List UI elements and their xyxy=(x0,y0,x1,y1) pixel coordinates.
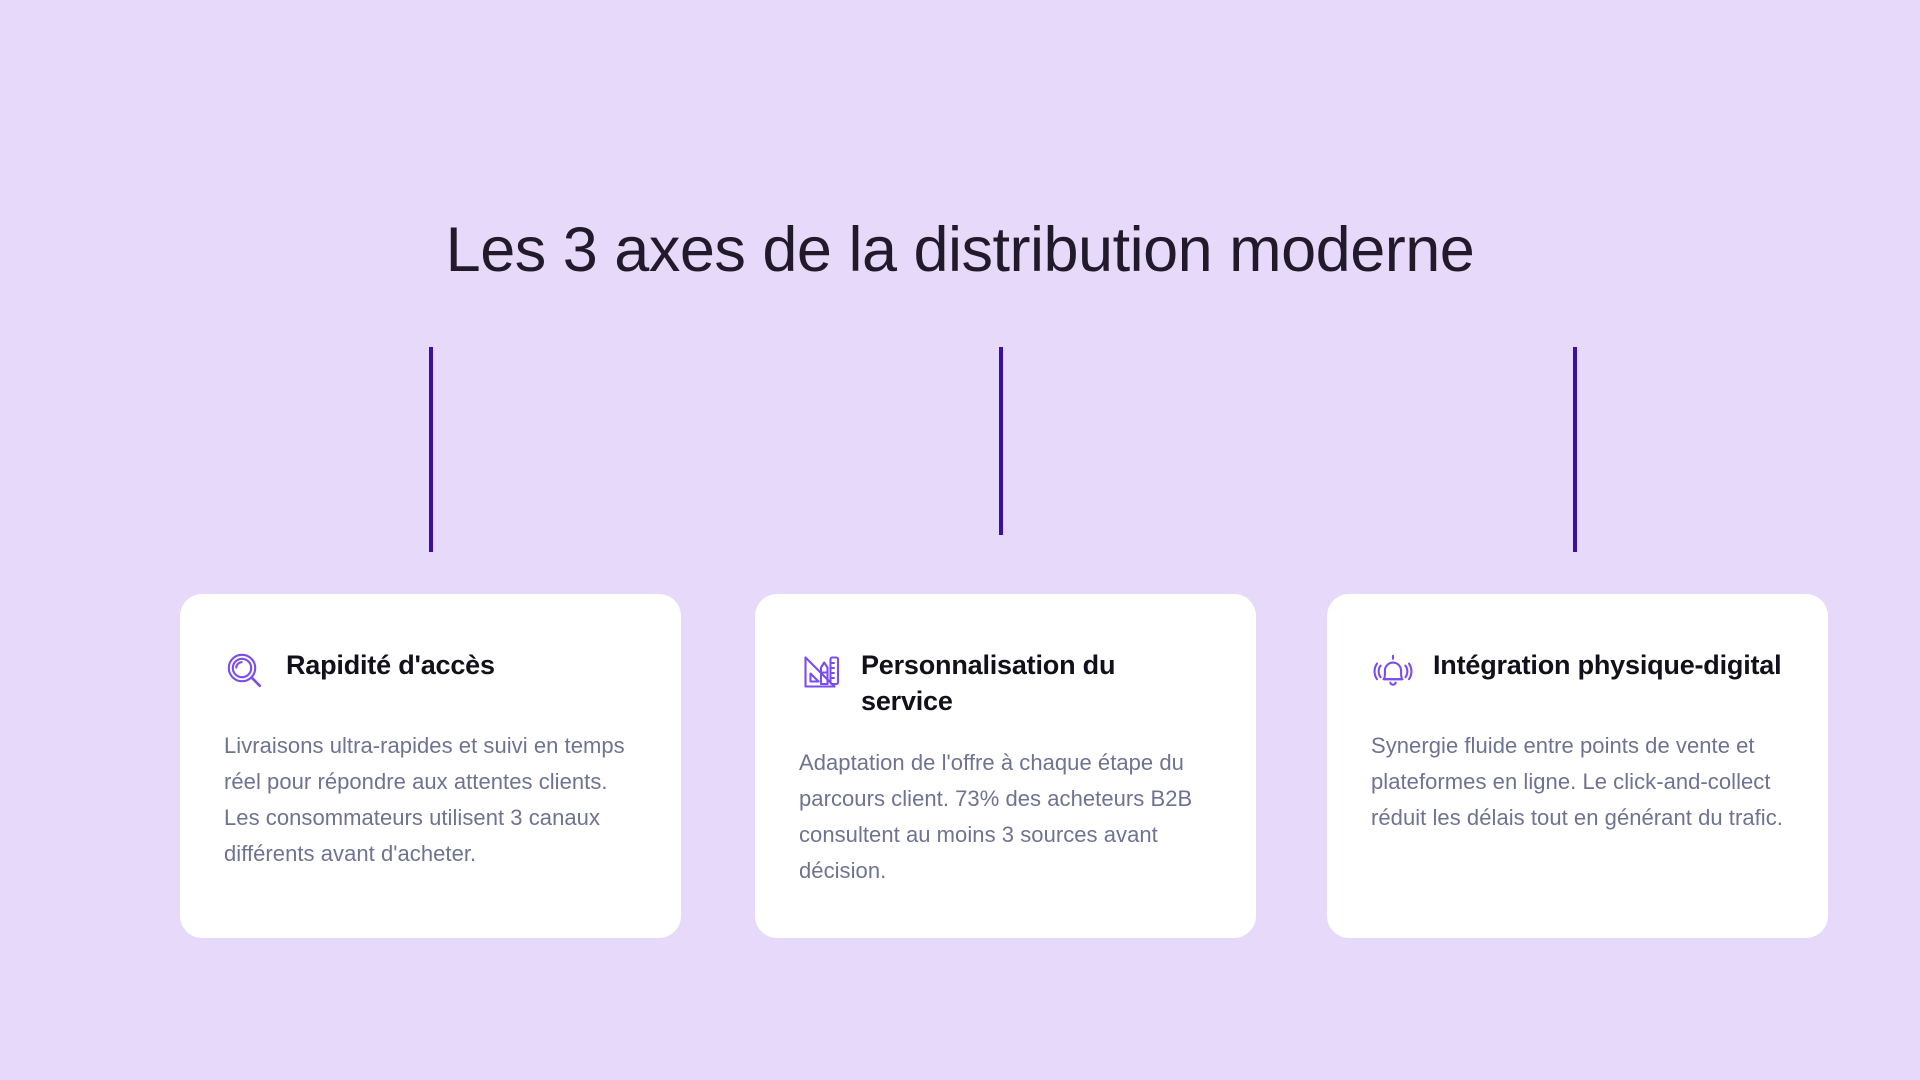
feature-card-3[interactable]: Intégration physique-digital Synergie fl… xyxy=(1327,594,1828,938)
magnifier-icon xyxy=(224,650,268,694)
slide-canvas: Les 3 axes de la distribution moderne Ra… xyxy=(0,0,1920,1080)
design-tools-icon xyxy=(799,650,843,694)
feature-card-1[interactable]: Rapidité d'accès Livraisons ultra-rapide… xyxy=(180,594,681,938)
card-body: Livraisons ultra-rapides et suivi en tem… xyxy=(224,728,637,871)
ringing-bell-icon xyxy=(1371,650,1415,694)
card-body: Synergie fluide entre points de vente et… xyxy=(1371,728,1784,836)
card-title: Rapidité d'accès xyxy=(286,646,495,684)
card-title: Personnalisation du service xyxy=(861,646,1212,719)
card-header: Intégration physique-digital xyxy=(1371,646,1784,702)
card-header: Personnalisation du service xyxy=(799,646,1212,719)
connector-stem xyxy=(999,347,1003,535)
feature-card-2[interactable]: Personnalisation du service Adaptation d… xyxy=(755,594,1256,938)
connector-stem xyxy=(429,347,433,552)
page-title: Les 3 axes de la distribution moderne xyxy=(0,214,1920,286)
card-body: Adaptation de l'offre à chaque étape du … xyxy=(799,745,1212,888)
card-title: Intégration physique-digital xyxy=(1433,646,1781,684)
connector-stem xyxy=(1573,347,1577,552)
card-header: Rapidité d'accès xyxy=(224,646,637,702)
